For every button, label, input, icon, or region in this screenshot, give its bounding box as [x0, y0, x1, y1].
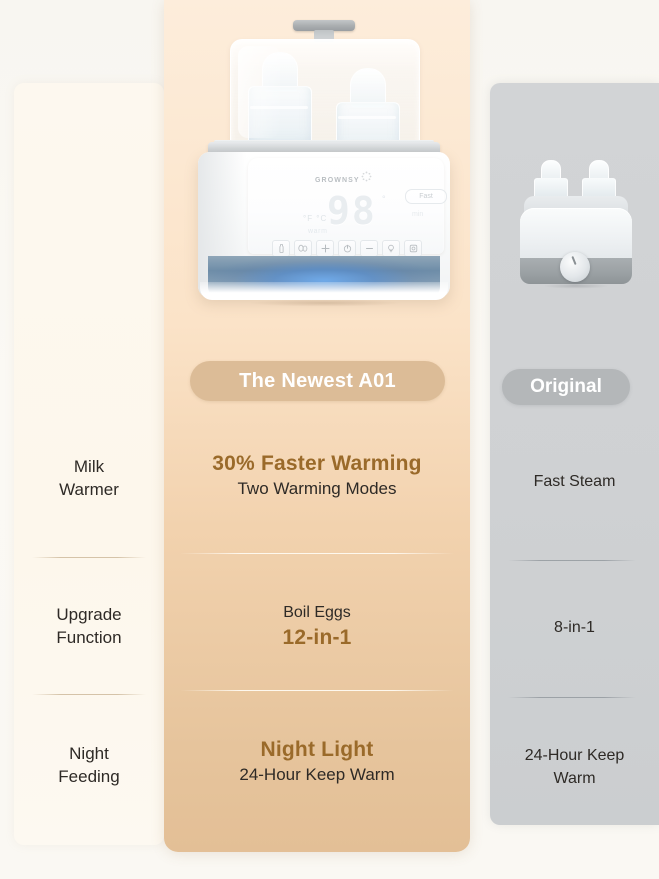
touch-button-row	[272, 240, 422, 256]
feature-label-night-feeding: Night Feeding	[14, 742, 164, 788]
minus-button[interactable]	[360, 240, 378, 257]
feature-label-line1: Upgrade	[14, 603, 164, 626]
product-drop-shadow	[216, 298, 434, 308]
feature-label-line2: Function	[14, 626, 164, 649]
unit-indicator: °F °C	[303, 214, 327, 223]
divider-center-1	[180, 553, 454, 554]
original-drop-shadow	[528, 282, 624, 290]
new-feature-subtext: Boil Eggs	[164, 601, 470, 624]
mode-indicator: warm	[308, 228, 328, 235]
bottle-warm-button[interactable]	[272, 240, 290, 257]
fast-mode-subtext: min	[412, 211, 423, 218]
new-feature-subtext: Two Warming Modes	[164, 477, 470, 501]
sterilize-button[interactable]	[404, 240, 422, 257]
feature-label-upgrade-function: Upgrade Function	[14, 603, 164, 649]
divider-center-2	[180, 690, 454, 691]
feature-label-line1: Milk	[14, 455, 164, 478]
original-product-image	[512, 158, 638, 288]
original-feature-line1: 24-Hour Keep	[490, 744, 659, 767]
original-feature-milk-warmer: Fast Steam	[490, 470, 659, 493]
new-feature-headline: 30% Faster Warming	[164, 450, 470, 477]
sparkle-icon	[361, 171, 372, 182]
power-button[interactable]	[338, 240, 356, 257]
new-product-image: GROWNSY 98 ° °F °C warm Fast min	[186, 6, 456, 311]
divider-left-1	[32, 557, 146, 558]
rotary-knob	[560, 252, 590, 282]
fast-mode-badge: Fast	[405, 189, 447, 204]
plus-button[interactable]	[316, 240, 334, 257]
feature-label-line2: Feeding	[14, 765, 164, 788]
night-light-button[interactable]	[382, 240, 400, 257]
original-feature-upgrade-function: 8-in-1	[490, 616, 659, 639]
new-feature-upgrade-function: Boil Eggs 12-in-1	[164, 601, 470, 651]
feature-label-milk-warmer: Milk Warmer	[14, 455, 164, 501]
food-eggs-button[interactable]	[294, 240, 312, 257]
new-feature-headline: Night Light	[164, 736, 470, 763]
divider-right-2	[508, 697, 636, 698]
divider-right-1	[508, 560, 636, 561]
bottle-ring	[338, 116, 396, 119]
comparison-infographic: GROWNSY 98 ° °F °C warm Fast min	[0, 0, 659, 879]
original-feature-night-feeding: 24-Hour Keep Warm	[490, 744, 659, 790]
degree-symbol: °	[382, 194, 386, 204]
brand-logo-text: GROWNSY	[315, 177, 360, 184]
feature-label-line2: Warmer	[14, 478, 164, 501]
new-feature-milk-warmer: 30% Faster Warming Two Warming Modes	[164, 450, 470, 501]
new-feature-subtext: 24-Hour Keep Warm	[164, 763, 470, 787]
original-feature-line2: Warm	[490, 767, 659, 790]
new-product-badge: The Newest A01	[190, 361, 445, 401]
cover-highlight	[238, 46, 280, 138]
temperature-display: 98	[327, 192, 377, 230]
original-product-badge: Original	[502, 369, 630, 405]
feature-label-line1: Night	[14, 742, 164, 765]
new-feature-night-feeding: Night Light 24-Hour Keep Warm	[164, 736, 470, 787]
new-feature-headline: 12-in-1	[164, 624, 470, 651]
divider-left-2	[32, 694, 146, 695]
